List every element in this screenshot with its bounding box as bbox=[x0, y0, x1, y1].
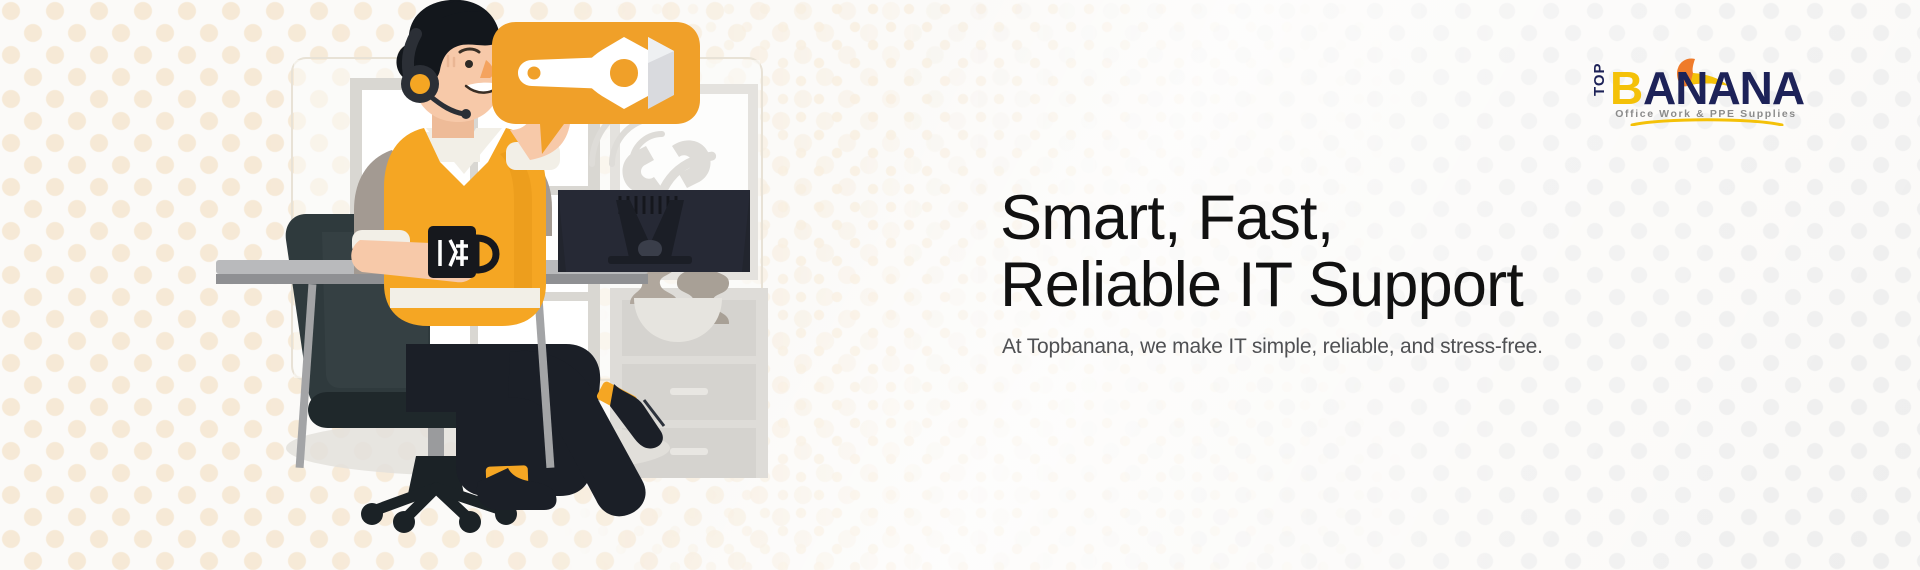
hero-copy: Smart, Fast, Reliable IT Support At Topb… bbox=[1000, 185, 1780, 359]
hero-banner: Smart, Fast, Reliable IT Support At Topb… bbox=[0, 0, 1920, 570]
logo-swoosh bbox=[1632, 120, 1782, 125]
logo-brand-rest: ANANA bbox=[1643, 62, 1804, 114]
desktop-monitor bbox=[558, 190, 750, 272]
logo-tagline: Office Work & PPE Supplies bbox=[1615, 108, 1796, 120]
hero-subtitle: At Topbanana, we make IT simple, reliabl… bbox=[1002, 335, 1780, 359]
page-title: Smart, Fast, Reliable IT Support bbox=[1000, 185, 1780, 319]
it-support-illustration bbox=[210, 0, 850, 570]
logo-brand-first-letter: B bbox=[1610, 62, 1643, 114]
logo-top-word: TOP bbox=[1591, 62, 1608, 96]
topbanana-logo[interactable]: TOP B ANANA Office Work & PPE Supplies bbox=[1590, 52, 1822, 126]
